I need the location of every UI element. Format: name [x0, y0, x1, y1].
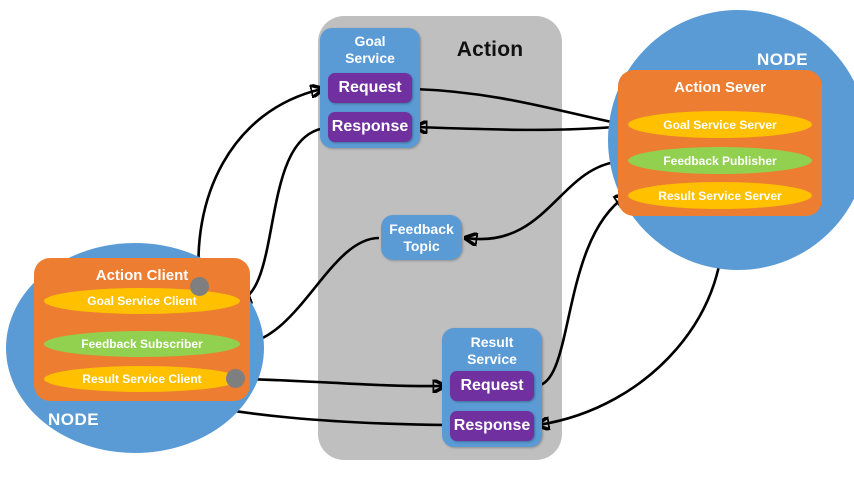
client-node-label: NODE: [48, 410, 99, 430]
result-service-response-box[interactable]: Response: [450, 411, 534, 441]
result-service-title: Result Service: [442, 334, 542, 368]
diagram-canvas: Action Goal Service: [0, 0, 854, 480]
feedback-subscriber-pill[interactable]: Feedback Subscriber: [44, 331, 240, 357]
result-service-server-pill[interactable]: Result Service Server: [628, 182, 812, 209]
result-service-client-connector-dot: [226, 369, 245, 388]
action-group-title: Action: [430, 38, 550, 62]
goal-service-response-box[interactable]: Response: [328, 112, 412, 142]
result-service-title-line1: Result: [471, 334, 514, 350]
goal-service-title-line1: Goal: [354, 33, 385, 49]
server-node-label: NODE: [757, 50, 808, 70]
result-service-title-line2: Service: [467, 351, 517, 367]
feedback-topic-title-line2: Topic: [403, 238, 439, 254]
action-client-title: Action Client: [34, 267, 250, 284]
goal-service-client-connector-dot: [190, 277, 209, 296]
goal-service-server-pill[interactable]: Goal Service Server: [628, 111, 812, 138]
goal-service-client-pill[interactable]: Goal Service Client: [44, 288, 240, 314]
feedback-topic-box[interactable]: Feedback Topic: [381, 215, 462, 260]
result-service-request-box[interactable]: Request: [450, 371, 534, 401]
goal-service-request-box[interactable]: Request: [328, 73, 412, 103]
goal-service-title-line2: Service: [345, 50, 395, 66]
result-service-client-pill[interactable]: Result Service Client: [44, 366, 240, 392]
feedback-publisher-pill[interactable]: Feedback Publisher: [628, 147, 812, 174]
feedback-topic-title-line1: Feedback: [389, 221, 454, 237]
goal-service-title: Goal Service: [320, 33, 420, 67]
feedback-topic-title: Feedback Topic: [381, 221, 462, 255]
arrow-goalresponse-to-goalclient: [240, 128, 326, 301]
action-server-title: Action Sever: [618, 79, 822, 96]
